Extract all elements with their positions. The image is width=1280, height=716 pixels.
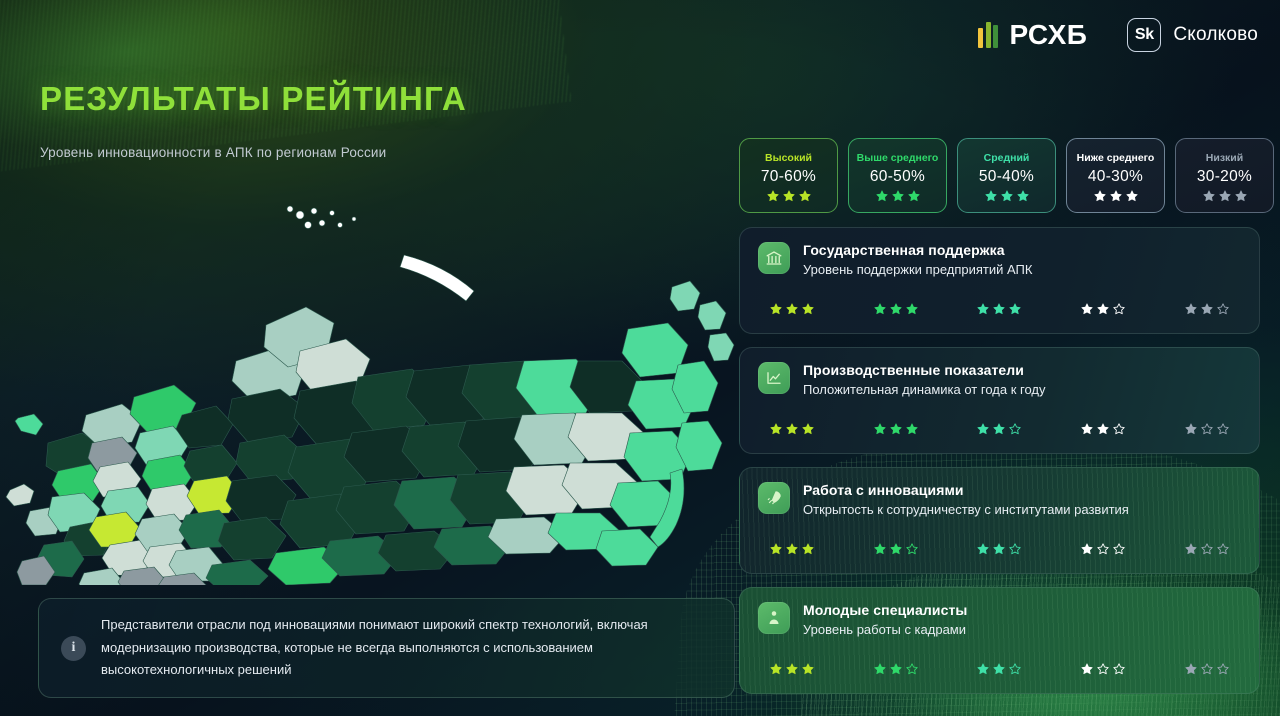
skolkovo-logo-text: Сколково [1173, 24, 1258, 46]
metric-title: Производственные показатели [803, 362, 1045, 378]
legend-card-1[interactable]: Выше среднего60-50% [848, 138, 947, 213]
metric-stars-tier-2 [948, 663, 1052, 675]
legend-label: Низкий [1206, 152, 1243, 164]
footnote-text: Представители отрасли под инновациями по… [101, 614, 712, 681]
metric-card-2[interactable]: Работа с инновациямиОткрытость к сотрудн… [739, 467, 1260, 574]
metric-stars-tier-3 [1051, 303, 1155, 315]
rshb-bars-icon [978, 22, 998, 48]
skolkovo-logo: Sk Сколково [1127, 18, 1258, 52]
metric-subtitle: Открытость к сотрудничеству с институтам… [803, 502, 1129, 517]
metric-stars-tier-1 [844, 423, 948, 435]
legend-card-2[interactable]: Средний50-40% [957, 138, 1056, 213]
metric-stars-row [740, 663, 1259, 675]
metric-title: Государственная поддержка [803, 242, 1032, 258]
header: РСХБ Sk Сколково [0, 0, 1280, 72]
legend-stars [1203, 190, 1247, 202]
rshb-logo-text: РСХБ [1009, 19, 1087, 51]
metric-stars-tier-4 [1155, 303, 1259, 315]
page-subtitle: Уровень инновационности в АПК по региона… [40, 145, 467, 160]
info-icon: i [61, 636, 86, 661]
metric-stars-tier-1 [844, 303, 948, 315]
metric-stars-tier-0 [740, 543, 844, 555]
metric-card-head: Производственные показателиПоложительная… [758, 362, 1241, 397]
page-title: РЕЗУЛЬТАТЫ РЕЙТИНГА [40, 80, 467, 118]
rocket-icon [758, 482, 790, 514]
metric-stars-tier-2 [948, 423, 1052, 435]
metric-card-head: Работа с инновациямиОткрытость к сотрудн… [758, 482, 1241, 517]
chart-line-icon [758, 362, 790, 394]
metric-subtitle: Уровень поддержки предприятий АПК [803, 262, 1032, 277]
metric-stars-tier-4 [1155, 543, 1259, 555]
legend-label: Ниже среднего [1077, 152, 1155, 164]
metric-card-head: Молодые специалистыУровень работы с кадр… [758, 602, 1241, 637]
metric-stars-tier-0 [740, 423, 844, 435]
metric-stars-row [740, 303, 1259, 315]
legend-label: Выше среднего [857, 152, 939, 164]
legend-range: 30-20% [1197, 168, 1252, 186]
logo-group: РСХБ Sk Сколково [978, 18, 1258, 52]
metric-stars-row [740, 543, 1259, 555]
metric-stars-tier-3 [1051, 543, 1155, 555]
russia-map[interactable] [0, 175, 735, 585]
map-svg [0, 175, 735, 585]
legend-range: 70-60% [761, 168, 816, 186]
legend-card-0[interactable]: Высокий70-60% [739, 138, 838, 213]
legend-stars [985, 190, 1029, 202]
metric-stars-tier-3 [1051, 423, 1155, 435]
metric-stars-tier-2 [948, 543, 1052, 555]
skolkovo-mark-icon: Sk [1127, 18, 1161, 52]
metric-stars-tier-3 [1051, 663, 1155, 675]
metric-subtitle: Уровень работы с кадрами [803, 622, 968, 637]
metric-card-head: Государственная поддержкаУровень поддерж… [758, 242, 1241, 277]
metric-title: Работа с инновациями [803, 482, 1129, 498]
metric-card-0[interactable]: Государственная поддержкаУровень поддерж… [739, 227, 1260, 334]
legend-label: Высокий [765, 152, 812, 164]
metric-stars-tier-4 [1155, 663, 1259, 675]
metric-stars-tier-2 [948, 303, 1052, 315]
metric-subtitle: Положительная динамика от года к году [803, 382, 1045, 397]
legend-range: 50-40% [979, 168, 1034, 186]
legend-card-4[interactable]: Низкий30-20% [1175, 138, 1274, 213]
bank-icon [758, 242, 790, 274]
title-block: РЕЗУЛЬТАТЫ РЕЙТИНГА Уровень инновационно… [40, 80, 467, 160]
legend-stars [1094, 190, 1138, 202]
metric-cards: Государственная поддержкаУровень поддерж… [739, 227, 1260, 707]
metric-stars-row [740, 423, 1259, 435]
legend-range: 40-30% [1088, 168, 1143, 186]
metric-stars-tier-1 [844, 663, 948, 675]
legend-range: 60-50% [870, 168, 925, 186]
legend-stars [767, 190, 811, 202]
legend-stars [876, 190, 920, 202]
metric-card-1[interactable]: Производственные показателиПоложительная… [739, 347, 1260, 454]
metric-stars-tier-0 [740, 663, 844, 675]
rshb-logo: РСХБ [978, 19, 1087, 51]
footnote-panel: i Представители отрасли под инновациями … [38, 598, 735, 698]
metric-stars-tier-0 [740, 303, 844, 315]
legend-label: Средний [984, 152, 1030, 164]
metric-stars-tier-4 [1155, 423, 1259, 435]
metric-title: Молодые специалисты [803, 602, 968, 618]
metric-stars-tier-1 [844, 543, 948, 555]
legend-card-3[interactable]: Ниже среднего40-30% [1066, 138, 1165, 213]
metric-card-3[interactable]: Молодые специалистыУровень работы с кадр… [739, 587, 1260, 694]
people-icon [758, 602, 790, 634]
legend: Высокий70-60%Выше среднего60-50%Средний5… [739, 138, 1274, 213]
